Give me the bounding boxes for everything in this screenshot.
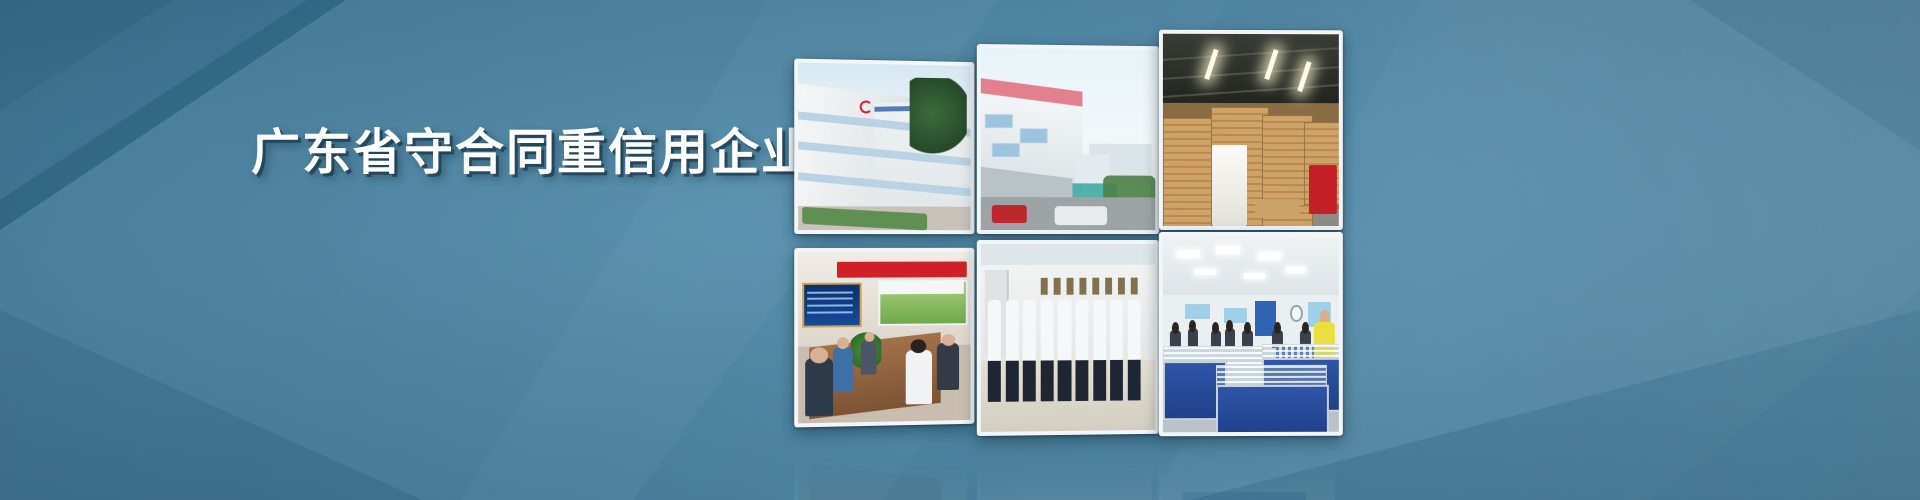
photo-warehouse-stock (1163, 34, 1339, 226)
photo-card-plant-building[interactable] (977, 44, 1159, 234)
board-line-1 (807, 291, 852, 293)
tree (909, 78, 967, 158)
white-car (1055, 207, 1107, 225)
reflection-column-right (1159, 458, 1335, 500)
reflection-card (977, 460, 1152, 500)
staff-trousers (1110, 359, 1123, 400)
photo-card-office-area[interactable] (1159, 232, 1343, 436)
photo-staff-group (981, 244, 1156, 432)
staff-trousers (1005, 360, 1018, 401)
attendee (805, 358, 833, 417)
board-line-2 (807, 298, 852, 300)
reflection-middle (977, 458, 1152, 500)
reflection-column-middle (977, 458, 1152, 500)
ceiling-light (1244, 273, 1265, 279)
staff-trousers (1128, 359, 1141, 400)
window (991, 143, 1019, 158)
staff-trousers (1058, 360, 1071, 401)
window (1020, 128, 1048, 143)
conference-table (809, 464, 940, 500)
ceiling-light (1177, 250, 1200, 258)
office-ceiling (1163, 236, 1339, 303)
white-sacks (1212, 145, 1247, 226)
attendee-head (837, 337, 849, 349)
photo-meeting-room (798, 252, 970, 424)
wall-clock-icon (1290, 305, 1303, 323)
employee-head (1244, 322, 1251, 334)
ceiling-light (1216, 246, 1241, 254)
reflection-right (1159, 458, 1335, 500)
collage-column-right (1159, 30, 1335, 451)
reflection-image (798, 464, 967, 500)
employee-head (1302, 322, 1309, 334)
board-line-4 (807, 312, 852, 314)
wall-poster (1184, 303, 1211, 321)
employee-head (1274, 322, 1281, 334)
banner-headline: 广东省守合同重信用企业 (251, 128, 812, 177)
attendee (833, 347, 852, 392)
cubicle-partition (1181, 490, 1308, 500)
staff-trousers (1023, 360, 1036, 401)
collage-column-left (794, 31, 967, 450)
forklift (1309, 165, 1337, 215)
ceiling-light (1195, 269, 1216, 275)
attendee-head (810, 348, 827, 364)
red-banner (837, 262, 968, 278)
staff-trousers (1041, 360, 1054, 401)
photo-plant-building (981, 48, 1156, 230)
reflection-column-left (794, 458, 967, 500)
red-car (991, 205, 1026, 223)
photo-card-staff-group[interactable] (977, 240, 1159, 436)
company-logo-icon (859, 100, 872, 113)
pallet (1255, 199, 1301, 218)
staff-trousers (1076, 360, 1089, 401)
cubicle-partition (1216, 385, 1329, 432)
reflection-image (981, 464, 1152, 500)
employee-head (1172, 322, 1179, 334)
staff-trousers (988, 360, 1001, 401)
attendee (906, 350, 932, 405)
reflection-image (1163, 464, 1335, 500)
attendee (937, 343, 959, 391)
photo-card-warehouse-stock[interactable] (1159, 30, 1343, 230)
collage-column-middle (977, 30, 1152, 450)
board-line-3 (807, 305, 852, 307)
photo-factory-exterior (798, 63, 970, 231)
wall-company-name-sign (1041, 277, 1138, 294)
floor (981, 464, 1152, 500)
window (984, 114, 1012, 129)
attendee (861, 340, 877, 374)
staff-trousers (1093, 360, 1106, 401)
photo-card-factory-exterior[interactable] (794, 59, 974, 235)
company-honor-banner: 广东省守合同重信用企业 (0, 0, 1920, 500)
photo-card-meeting-room[interactable] (794, 248, 974, 428)
screen-header (878, 280, 964, 294)
photo-office-area (1163, 236, 1339, 432)
reflection-left (794, 458, 967, 500)
ceiling (981, 244, 1156, 265)
ceiling-light (1286, 267, 1305, 273)
reflection-card (794, 460, 967, 500)
ceiling-light (1258, 252, 1281, 260)
photo-collage (795, 30, 1355, 450)
reflection-card (1159, 460, 1335, 500)
photo-collage-reflection (795, 458, 1355, 500)
